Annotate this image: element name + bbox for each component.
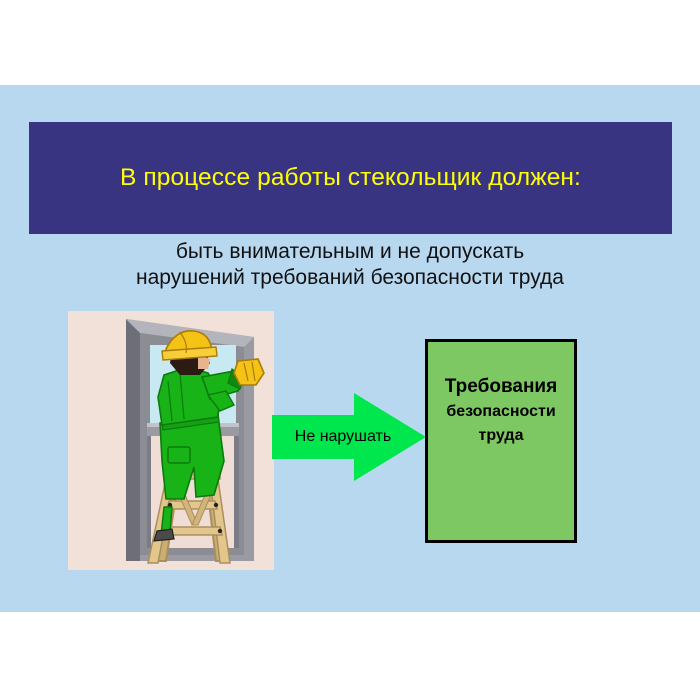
title-banner: В процессе работы стекольщик должен: — [29, 122, 672, 234]
slide-canvas: В процессе работы стекольщик должен: быт… — [0, 85, 700, 612]
arrow-label: Не нарушать — [278, 419, 408, 455]
glazier-illustration — [68, 311, 274, 570]
requirements-line-2: безопасности — [428, 400, 574, 424]
glazier-scene-icon — [68, 311, 274, 570]
page-title: В процессе работы стекольщик должен: — [29, 122, 672, 234]
safety-requirements-text: Требования безопасности труда — [428, 374, 574, 448]
do-not-violate-arrow: Не нарушать — [270, 389, 428, 485]
requirements-line-1: Требования — [428, 374, 574, 400]
safety-requirements-box: Требования безопасности труда — [425, 339, 577, 543]
subtitle-line-2: нарушений требований безопасности труда — [0, 265, 700, 291]
subtitle-line-1: быть внимательным и не допускать — [0, 239, 700, 265]
subtitle-block: быть внимательным и не допускать нарушен… — [0, 239, 700, 291]
requirements-line-3: труда — [428, 424, 574, 448]
